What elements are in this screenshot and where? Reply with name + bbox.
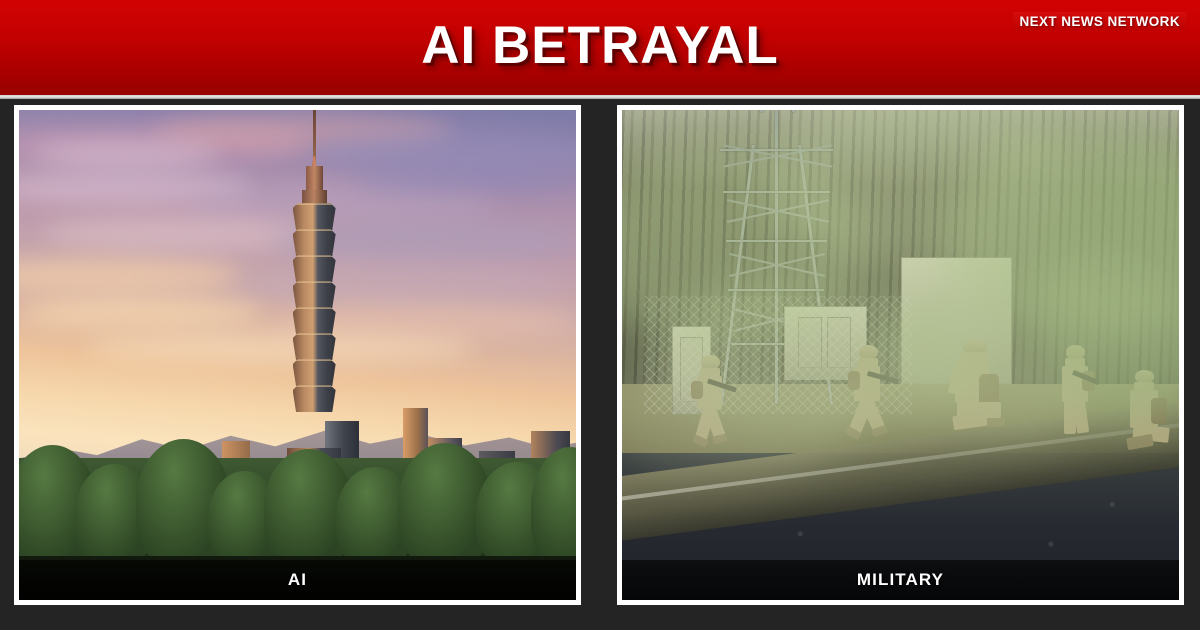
panel-ai: AI [14, 105, 581, 605]
ai-photo: AI [19, 110, 576, 600]
caption-band-military: MILITARY [622, 560, 1179, 600]
military-photo: MILITARY [622, 110, 1179, 600]
header-banner: AI BETRAYAL NEXT NEWS NETWORK [0, 0, 1200, 95]
tree-canopy [19, 458, 576, 566]
smoke-overlay [622, 110, 1179, 600]
caption-label-ai: AI [288, 570, 307, 590]
thumbnail-canvas: AI BETRAYAL NEXT NEWS NETWORK [0, 0, 1200, 630]
panel-military: MILITARY [617, 105, 1184, 605]
header-divider [0, 95, 1200, 99]
caption-label-military: MILITARY [857, 570, 944, 590]
caption-band-ai: AI [19, 560, 576, 600]
network-branding: NEXT NEWS NETWORK [1013, 12, 1186, 31]
